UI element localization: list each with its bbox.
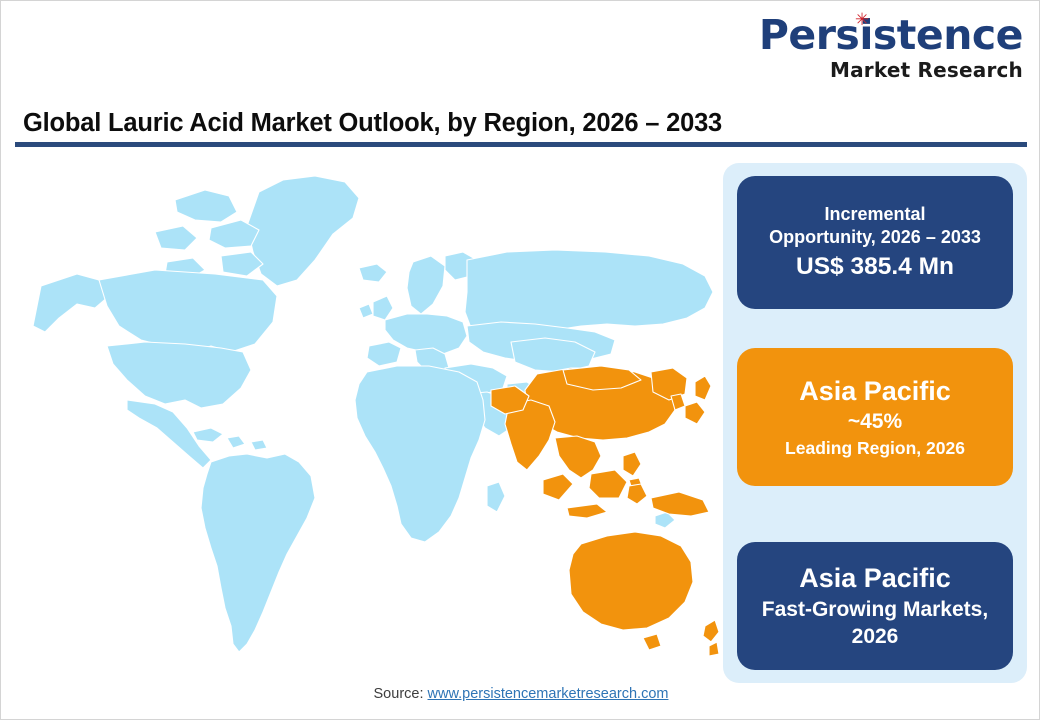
infographic-frame: Persistence ✳ Market Research Global Lau…	[0, 0, 1040, 720]
title-divider	[15, 142, 1027, 147]
logo-wordmark: Persistence ✳	[759, 15, 1023, 56]
stat-card-leading-region: Asia Pacific ~45% Leading Region, 2026	[737, 348, 1013, 486]
card1-value: US$ 385.4 Mn	[796, 252, 954, 283]
page-title: Global Lauric Acid Market Outlook, by Re…	[23, 109, 722, 138]
card1-line2: Opportunity, 2026 – 2033	[769, 226, 981, 249]
map-region-asia-pacific	[491, 366, 719, 656]
card3-region: Asia Pacific	[799, 562, 951, 594]
card2-share: ~45%	[848, 409, 902, 435]
logo-tagline: Market Research	[759, 60, 1023, 80]
stat-card-incremental-opportunity: Incremental Opportunity, 2026 – 2033 US$…	[737, 176, 1013, 309]
card3-year: 2026	[852, 624, 899, 650]
source-link[interactable]: www.persistencemarketresearch.com	[428, 686, 669, 702]
source-label: Source:	[374, 686, 428, 702]
world-map-svg	[15, 156, 721, 676]
source-footer: Source: www.persistencemarketresearch.co…	[1, 686, 1040, 702]
logo-main-text: Persistence	[759, 11, 1023, 59]
world-map	[15, 156, 721, 676]
stats-panel: Incremental Opportunity, 2026 – 2033 US$…	[723, 163, 1027, 683]
card2-caption: Leading Region, 2026	[785, 438, 965, 460]
stat-card-fast-growing-market: Asia Pacific Fast-Growing Markets, 2026	[737, 542, 1013, 670]
card2-region: Asia Pacific	[799, 375, 951, 407]
card3-caption: Fast-Growing Markets,	[762, 597, 988, 623]
card1-line1: Incremental	[824, 203, 925, 226]
star-icon: ✳	[855, 14, 867, 26]
company-logo: Persistence ✳ Market Research	[759, 15, 1023, 80]
